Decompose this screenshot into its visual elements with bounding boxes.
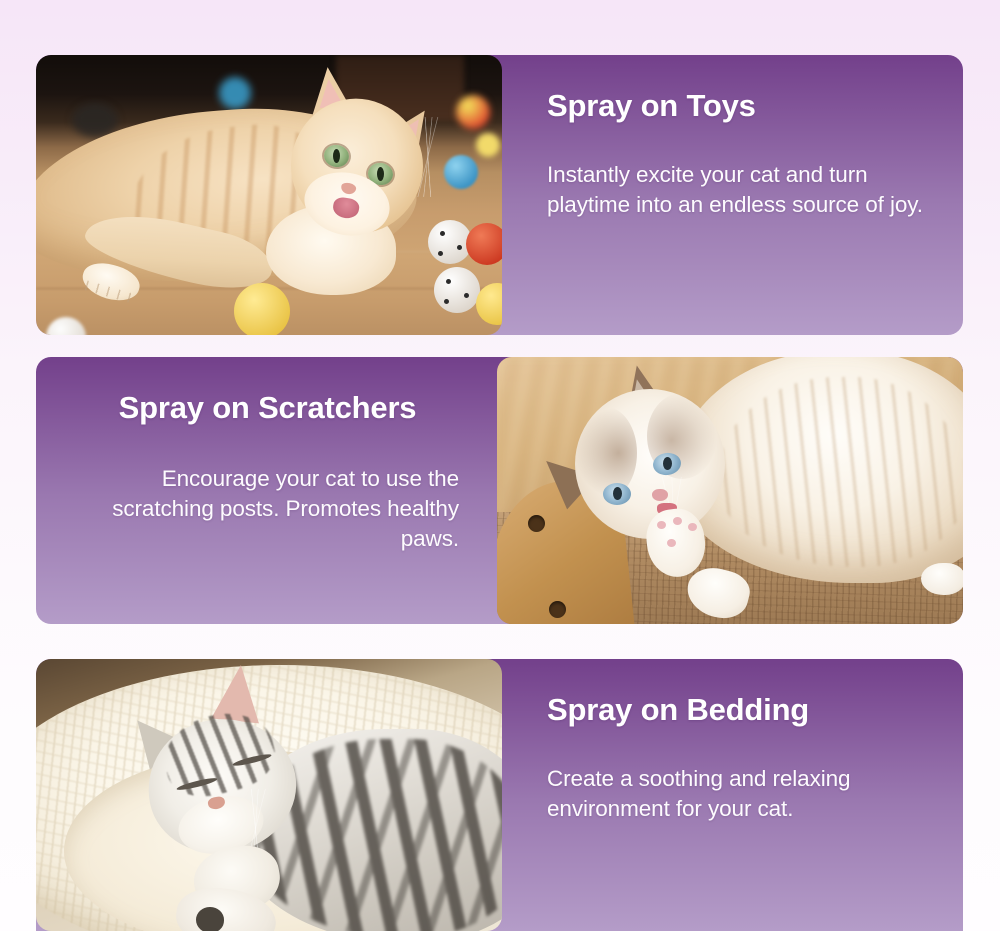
- card-body-text: Create a soothing and relaxing environme…: [547, 764, 923, 824]
- feature-card-spray-on-toys: Spray on Toys Instantly excite your cat …: [36, 55, 963, 335]
- card-title: Spray on Scratchers: [76, 390, 459, 426]
- cat-on-scratcher-photo: [497, 357, 963, 624]
- card-title: Spray on Bedding: [547, 692, 923, 728]
- feature-cards-board: Spray on Toys Instantly excite your cat …: [0, 0, 1000, 931]
- cat-with-toys-photo: [36, 55, 502, 335]
- card-text-panel: Spray on Toys Instantly excite your cat …: [500, 55, 963, 335]
- card-text-panel: Spray on Scratchers Encourage your cat t…: [36, 357, 499, 624]
- card-body-text: Instantly excite your cat and turn playt…: [547, 160, 923, 220]
- card-title: Spray on Toys: [547, 88, 923, 124]
- card-text-panel: Spray on Bedding Create a soothing and r…: [500, 659, 963, 931]
- feature-card-spray-on-bedding: Spray on Bedding Create a soothing and r…: [36, 659, 963, 931]
- card-body-text: Encourage your cat to use the scratching…: [76, 464, 459, 554]
- cat-in-bed-photo: [36, 659, 502, 931]
- feature-card-spray-on-scratchers: Spray on Scratchers Encourage your cat t…: [36, 357, 963, 624]
